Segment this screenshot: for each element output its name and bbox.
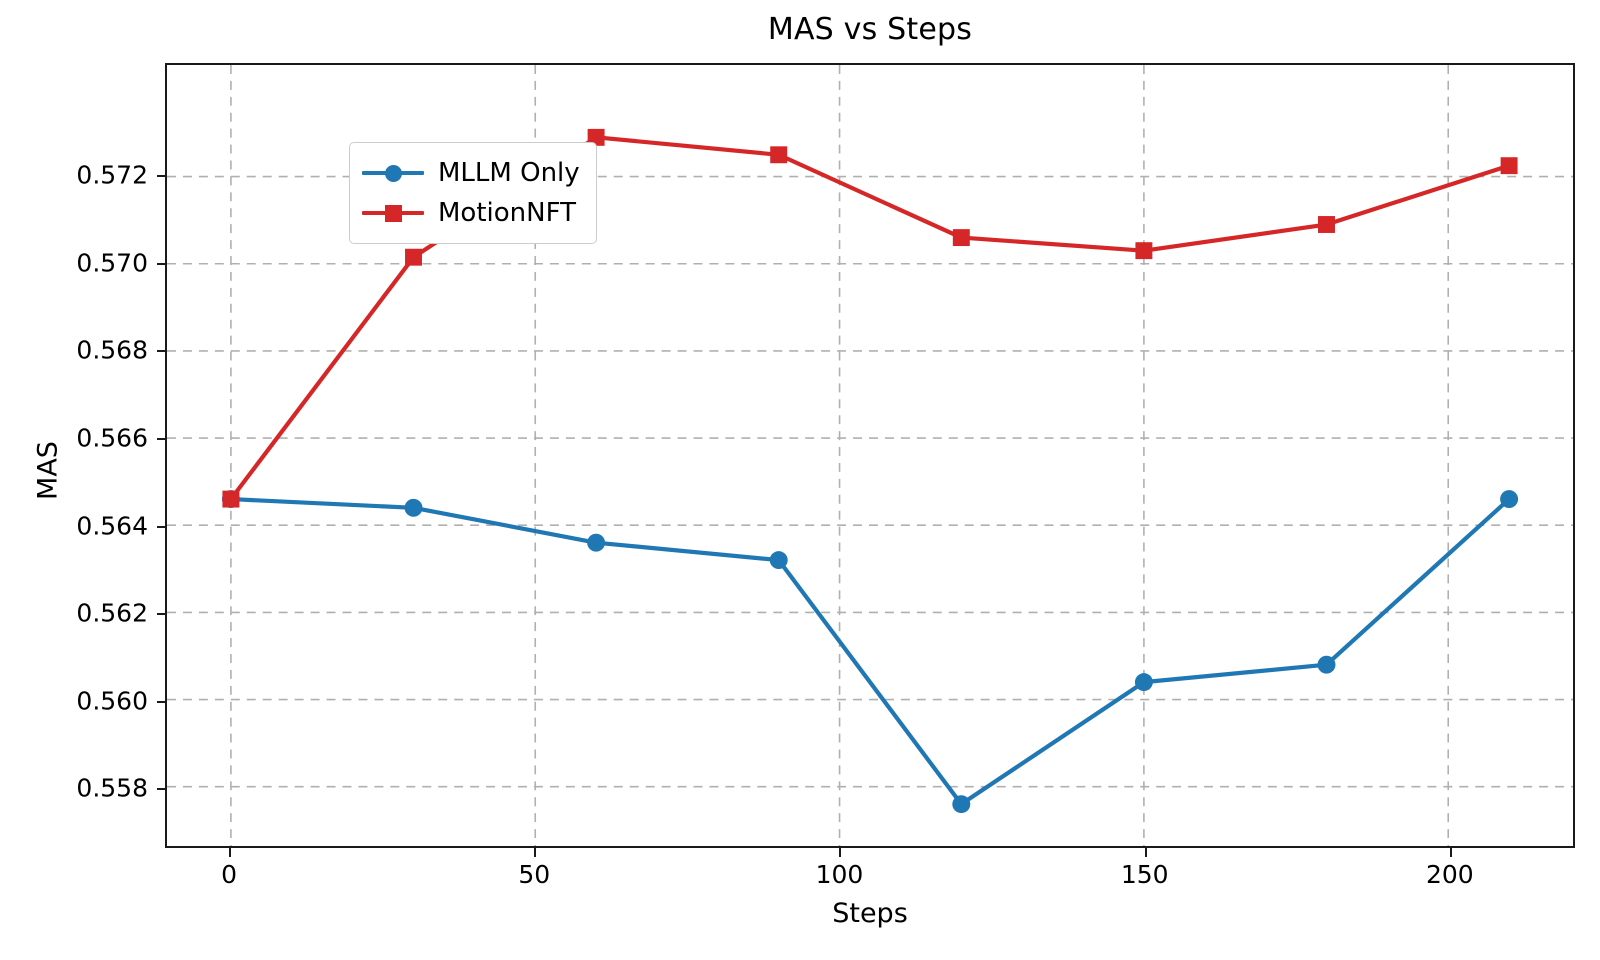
data-point-marker[interactable] — [222, 491, 239, 508]
data-point-marker[interactable] — [952, 795, 970, 813]
legend-label-mllm-only: MLLM Only — [438, 158, 580, 188]
data-point-marker[interactable] — [770, 551, 788, 569]
x-tick-label: 200 — [1426, 860, 1474, 889]
square-marker-icon — [385, 205, 402, 222]
x-tick-label: 100 — [816, 860, 864, 889]
x-tick-label: 50 — [518, 860, 550, 889]
chart-title: MAS vs Steps — [165, 12, 1575, 47]
y-tick-label: 0.562 — [76, 599, 148, 628]
data-point-marker[interactable] — [1501, 157, 1518, 174]
legend-swatch-mllm-only — [362, 161, 424, 185]
data-point-marker[interactable] — [1318, 656, 1336, 674]
chart-legend[interactable]: MLLM Only MotionNFT — [349, 142, 597, 244]
circle-marker-icon — [385, 165, 402, 182]
x-tick-mark — [1145, 848, 1147, 857]
y-axis-title: MAS — [33, 411, 64, 531]
y-tick-label: 0.558 — [76, 774, 148, 803]
data-point-marker[interactable] — [770, 146, 787, 163]
x-tick-mark — [1450, 848, 1452, 857]
x-tick-label: 0 — [221, 860, 237, 889]
data-point-marker[interactable] — [1318, 216, 1335, 233]
y-axis-tick-labels: 0.5580.5600.5620.5640.5660.5680.5700.572 — [0, 0, 148, 960]
y-tick-label: 0.560 — [76, 686, 148, 715]
y-tick-label: 0.566 — [76, 423, 148, 452]
data-point-marker[interactable] — [405, 249, 422, 266]
y-tick-label: 0.568 — [76, 336, 148, 365]
x-tick-label: 150 — [1121, 860, 1169, 889]
chart-figure: MAS vs Steps 0.5580.5600.5620.5640.5660.… — [0, 0, 1600, 960]
data-point-marker[interactable] — [953, 229, 970, 246]
y-tick-label: 0.564 — [76, 511, 148, 540]
legend-label-motionnft: MotionNFT — [438, 198, 576, 228]
data-point-marker[interactable] — [405, 499, 423, 517]
legend-item-motionnft[interactable]: MotionNFT — [362, 193, 580, 233]
x-tick-mark — [534, 848, 536, 857]
x-axis-title: Steps — [165, 898, 1575, 929]
x-tick-mark — [839, 848, 841, 857]
legend-swatch-motionnft — [362, 201, 424, 225]
data-point-marker[interactable] — [1135, 242, 1152, 259]
x-tick-mark — [229, 848, 231, 857]
series-line-mllm-only — [231, 499, 1509, 804]
plot-area: MLLM Only MotionNFT — [165, 63, 1575, 848]
data-point-marker[interactable] — [1500, 490, 1518, 508]
y-tick-label: 0.570 — [76, 248, 148, 277]
y-tick-label: 0.572 — [76, 161, 148, 190]
data-point-marker[interactable] — [1135, 673, 1153, 691]
legend-item-mllm-only[interactable]: MLLM Only — [362, 153, 580, 193]
data-point-marker[interactable] — [587, 534, 605, 552]
